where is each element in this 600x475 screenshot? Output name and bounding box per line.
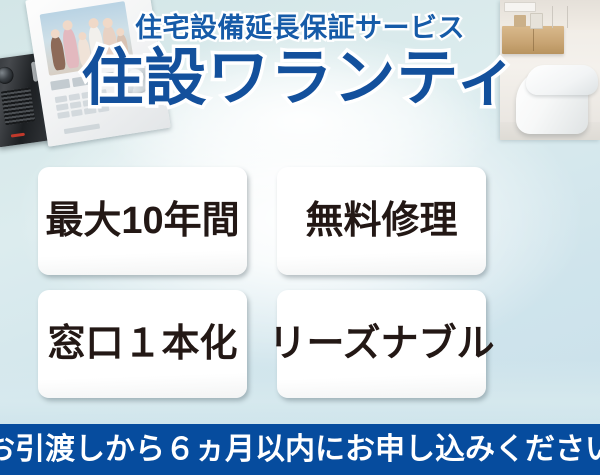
feature-box-single-contact[interactable]: 窓口１本化 [38,290,247,398]
feature-box-reasonable[interactable]: リーズナブル [277,290,486,398]
feature-label: リーズナブル [268,325,494,363]
service-subtitle: 住宅設備延長保証サービス [0,14,600,44]
feature-box-free-repair[interactable]: 無料修理 [277,167,486,275]
headline-block: 住宅設備延長保証サービス 住設ワランティ [0,14,600,113]
monitor-brand-label [64,124,100,135]
application-deadline-bar: お引渡しから６ヵ月以内にお申し込みください [0,424,600,475]
application-deadline-text: お引渡しから６ヵ月以内にお申し込みください [0,435,600,465]
page-title: 住設ワランティ [0,46,600,113]
feature-grid: 最大10年間 無料修理 窓口１本化 リーズナブル [38,167,486,398]
feature-label: 最大10年間 [45,202,239,240]
feature-label: 窓口１本化 [47,325,237,363]
camera-call-button [11,133,25,138]
toilet-vent [504,2,536,12]
feature-label: 無料修理 [305,202,457,240]
feature-box-duration[interactable]: 最大10年間 [38,167,247,275]
promo-banner: 住宅設備延長保証サービス 住設ワランティ 最大10年間 無料修理 窓口１本化 リ… [0,0,600,475]
